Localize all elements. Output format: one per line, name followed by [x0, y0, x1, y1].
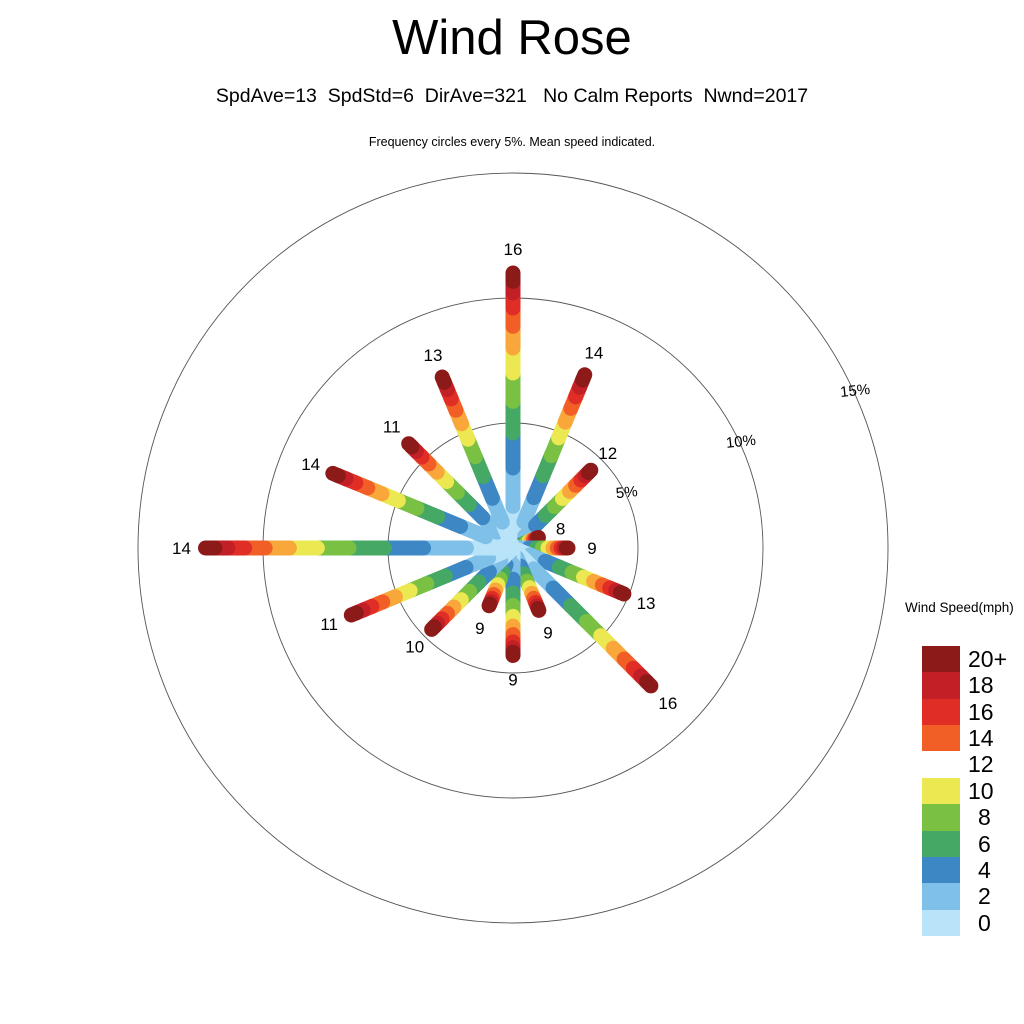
legend-label-2: 2 [962, 883, 1022, 909]
petal-mean-speed-SSW: 9 [475, 619, 484, 638]
legend-title: Wind Speed(mph) [905, 600, 1014, 615]
legend-swatch-4 [922, 857, 960, 883]
petal-mean-speed-NE: 12 [598, 444, 617, 463]
ring-label-group: 5% [615, 483, 638, 502]
legend-color-swatches [922, 646, 960, 936]
ring-label: 5% [615, 483, 638, 502]
legend-swatch-14 [922, 725, 960, 751]
ring-label: 10% [725, 432, 757, 452]
legend-swatch-0 [922, 910, 960, 936]
legend-swatch-12 [922, 751, 960, 777]
petal-mean-speed-SE: 16 [658, 694, 677, 713]
petal-mean-speed-SW: 10 [405, 637, 424, 656]
legend-label-12: 12 [962, 751, 1022, 777]
legend-swatch-8 [922, 804, 960, 830]
legend-label-20plus: 20+ [962, 646, 1022, 672]
petal-mean-speed-ENE: 8 [556, 519, 565, 538]
petal-segment [621, 593, 624, 594]
petal-mean-speed-E: 9 [587, 539, 596, 558]
petal-mean-speed-N: 16 [504, 240, 523, 259]
petal-segment [583, 375, 585, 380]
petal-segment [432, 627, 434, 629]
legend-swatch-18 [922, 672, 960, 698]
petal-segment [351, 613, 356, 615]
ring-label-group: 10% [725, 432, 757, 452]
petal-mean-speed-W: 14 [172, 539, 191, 558]
petal-mean-speed-S: 9 [508, 671, 517, 690]
petal-mean-speed-NNW: 13 [424, 346, 443, 365]
petal-mean-speed-NNE: 14 [584, 344, 603, 363]
petal-mean-speed-SSE: 9 [543, 624, 552, 643]
legend-label-18: 18 [962, 672, 1022, 698]
legend-label-4: 4 [962, 857, 1022, 883]
legend-swatch-16 [922, 699, 960, 725]
legend-label-8: 8 [962, 804, 1022, 830]
legend-swatch-2 [922, 883, 960, 909]
petal-segment [409, 444, 412, 447]
ring-label: 15% [839, 381, 871, 401]
wind-rose-plot: 5%10%15% 161412891316999101114141113 [0, 0, 1024, 1024]
ring-labels: 5%10%15% [615, 381, 871, 502]
petal-mean-speed-NW: 11 [383, 418, 401, 437]
legend-swatch-20plus [922, 646, 960, 672]
legend-swatch-10 [922, 778, 960, 804]
petal-segment [333, 473, 338, 475]
legend-label-6: 6 [962, 831, 1022, 857]
legend-label-14: 14 [962, 725, 1022, 751]
legend-label-16: 16 [962, 699, 1022, 725]
petal-segment [442, 377, 444, 382]
legend-label-0: 0 [962, 910, 1022, 936]
petal-segment [588, 470, 590, 472]
legend-swatch-6 [922, 831, 960, 857]
petal-segment [538, 608, 539, 610]
petal-mean-speed-ESE: 13 [637, 594, 656, 613]
petal-segment [489, 604, 490, 606]
petal-mean-speed-WSW: 11 [320, 615, 338, 634]
ring-label-group: 15% [839, 381, 871, 401]
legend-label-10: 10 [962, 778, 1022, 804]
petal-mean-speed-WNW: 14 [301, 455, 320, 474]
petal-segment [647, 682, 651, 686]
legend-value-labels: 20+181614121086420 [962, 646, 1022, 936]
